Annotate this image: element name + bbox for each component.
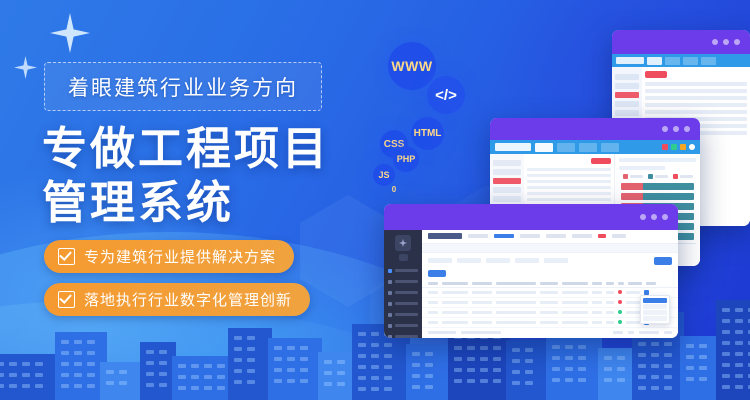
side-nav-item[interactable] (493, 196, 521, 202)
building-silhouette (172, 356, 232, 400)
building-window (493, 346, 501, 350)
side-nav-item-selected[interactable] (493, 178, 521, 184)
primary-action-button[interactable] (645, 71, 667, 78)
nav-tab[interactable] (579, 143, 597, 152)
building-window (565, 356, 573, 360)
app-logo-icon (395, 235, 411, 251)
building-window (0, 362, 4, 366)
building-window (87, 384, 95, 388)
building-window (74, 373, 82, 377)
sidebar-item-settings[interactable] (384, 332, 422, 338)
building-window (234, 336, 242, 340)
side-nav-item[interactable] (615, 110, 639, 116)
building-window (699, 355, 707, 359)
sidebar-item-materials[interactable] (384, 299, 422, 308)
legend-label (680, 175, 693, 178)
building-window (552, 345, 560, 349)
legend-item[interactable] (623, 174, 643, 179)
building-window (61, 340, 69, 344)
building-window (384, 354, 392, 358)
building-window (699, 366, 707, 370)
bubble-zero: 0 (386, 181, 402, 197)
filter-field[interactable] (457, 258, 481, 263)
building-window (300, 357, 308, 361)
building-window (722, 308, 730, 312)
column-header (562, 282, 588, 285)
user-menu[interactable] (612, 234, 626, 238)
building-window (565, 378, 573, 382)
status-badge (618, 290, 622, 294)
sidebar-item-projects[interactable] (384, 277, 422, 286)
building-window (119, 370, 127, 374)
table-row[interactable] (645, 110, 747, 114)
folder-icon (388, 280, 392, 284)
menu-item[interactable] (572, 234, 592, 238)
building-window (664, 386, 672, 390)
table-cell (496, 301, 536, 304)
sidebar-item-contracts[interactable] (384, 288, 422, 297)
filter-field[interactable] (515, 258, 539, 263)
side-nav-item-selected[interactable] (615, 92, 639, 98)
building-window (247, 336, 255, 340)
table-cell (606, 301, 614, 304)
building-window (512, 348, 520, 352)
building-window (247, 347, 255, 351)
building-window (722, 363, 730, 367)
building-window (358, 343, 366, 347)
building-window (651, 342, 659, 346)
building-silhouette (406, 344, 452, 400)
notification-icon[interactable] (598, 234, 606, 238)
doc-icon (388, 291, 392, 295)
feature-badge[interactable]: 专为建筑行业提供解决方案 (44, 240, 294, 273)
building-window (22, 362, 30, 366)
column-header (646, 282, 656, 285)
building-window (735, 330, 743, 334)
app-top-nav[interactable] (490, 140, 700, 154)
building-window (638, 353, 646, 357)
table-cell (472, 321, 492, 324)
building-window (412, 363, 420, 367)
context-menu[interactable] (640, 295, 670, 324)
panel-subheader (619, 166, 665, 170)
side-nav-item[interactable] (615, 83, 639, 89)
building-window (384, 387, 392, 391)
side-nav-item[interactable] (615, 74, 639, 80)
building-window (722, 385, 730, 389)
legend-item[interactable] (648, 174, 668, 179)
list-item[interactable] (527, 168, 611, 171)
building-window (87, 373, 95, 377)
building-window (638, 342, 646, 346)
building-window (735, 319, 743, 323)
building-window (493, 357, 501, 361)
building-window (578, 367, 586, 371)
building-window (371, 387, 379, 391)
side-nav-item[interactable] (493, 160, 521, 166)
building-window (467, 357, 475, 361)
table-cell (592, 321, 602, 324)
building-window (106, 381, 114, 385)
building-window (525, 359, 533, 363)
table-header (422, 280, 678, 287)
building-silhouette (140, 342, 176, 400)
building-window (525, 370, 533, 374)
building-window (9, 384, 17, 388)
table-cell (562, 311, 588, 314)
building-window (358, 354, 366, 358)
window-controls[interactable] (640, 214, 668, 220)
table-footer[interactable] (422, 328, 678, 338)
table-cell (472, 301, 492, 304)
building-window (247, 358, 255, 362)
building-window (371, 343, 379, 347)
legend-item[interactable] (673, 174, 693, 179)
table-cell (606, 311, 614, 314)
table-cell (472, 291, 492, 294)
building-window (35, 373, 43, 377)
window-body (384, 230, 678, 338)
chart-bar-segment (643, 183, 694, 190)
status-badge (618, 310, 622, 314)
building-window (358, 387, 366, 391)
building-window (0, 384, 4, 388)
building-window (9, 362, 17, 366)
building-window (61, 351, 69, 355)
menu-item[interactable] (468, 234, 488, 238)
breadcrumb (422, 244, 678, 253)
building-window (578, 345, 586, 349)
table-cell (442, 291, 468, 294)
building-silhouette (680, 336, 720, 400)
building-window (358, 376, 366, 380)
side-nav-item[interactable] (615, 101, 639, 107)
building-window (159, 383, 167, 387)
table-cell (472, 311, 492, 314)
dashboard-window-front[interactable] (384, 204, 678, 338)
chart-bar (621, 183, 694, 190)
building-silhouette (268, 338, 322, 400)
table-row[interactable] (645, 96, 747, 100)
sidebar-item-reports[interactable] (384, 321, 422, 330)
building-window (217, 375, 225, 379)
building-window (565, 367, 573, 371)
building-window (735, 363, 743, 367)
building-window (735, 385, 743, 389)
bubble-code: </> (427, 76, 465, 114)
building-window (480, 346, 488, 350)
building-window (467, 346, 475, 350)
nav-tab[interactable] (665, 57, 680, 65)
building-window (512, 370, 520, 374)
building-window (425, 374, 433, 378)
table-cell (592, 311, 602, 314)
search-input[interactable] (544, 258, 568, 263)
building-window (412, 385, 420, 389)
legend-label (630, 175, 643, 178)
collapse-icon[interactable] (399, 254, 408, 261)
building-window (87, 362, 95, 366)
toolbar-icons[interactable] (662, 144, 695, 150)
building-window (512, 359, 520, 363)
app-title (428, 233, 462, 239)
building-window (204, 375, 212, 379)
building-window (247, 380, 255, 384)
building-window (191, 375, 199, 379)
menu-item-active[interactable] (494, 234, 514, 238)
building-window (74, 351, 82, 355)
table-cell (626, 301, 640, 304)
building-silhouette (506, 340, 550, 400)
building-window (578, 378, 586, 382)
building-window (493, 379, 501, 383)
filter-field[interactable] (486, 258, 510, 263)
nav-tab[interactable] (701, 57, 716, 65)
alert-icon[interactable] (662, 144, 668, 150)
building-window (454, 368, 462, 372)
building-window (664, 364, 672, 368)
column-header (540, 282, 558, 285)
building-window (722, 374, 730, 378)
nav-tab[interactable] (683, 57, 698, 65)
building-window (686, 377, 694, 381)
main-content (422, 230, 678, 338)
building-window (512, 381, 520, 385)
gear-icon (388, 335, 392, 339)
nav-tab[interactable] (601, 143, 619, 152)
building-window (467, 368, 475, 372)
building-window (274, 357, 282, 361)
building-window (699, 344, 707, 348)
building-window (412, 352, 420, 356)
building-window (638, 364, 646, 368)
building-window (638, 386, 646, 390)
list-item[interactable] (527, 192, 611, 195)
list-item[interactable] (527, 180, 611, 183)
building-window (300, 368, 308, 372)
building-window (425, 352, 433, 356)
table-cell (540, 291, 558, 294)
bubble-php: PHP (393, 146, 419, 172)
building-window (87, 351, 95, 355)
building-window (664, 342, 672, 346)
list-item[interactable] (527, 186, 611, 189)
building-window (358, 365, 366, 369)
building-window (247, 369, 255, 373)
feature-badge[interactable]: 落地执行行业数字化管理创新 (44, 283, 310, 316)
building-window (300, 379, 308, 383)
user-icon (388, 313, 392, 317)
building-window (61, 362, 69, 366)
message-icon[interactable] (671, 144, 677, 150)
building-window (664, 353, 672, 357)
building-window (480, 368, 488, 372)
building-window (552, 356, 560, 360)
nav-tab[interactable] (557, 143, 575, 152)
building-window (204, 364, 212, 368)
table-row[interactable] (645, 103, 747, 107)
column-header (618, 282, 624, 285)
table-cell (428, 291, 438, 294)
building-window (604, 356, 612, 360)
building-window (651, 364, 659, 368)
chart-bar (621, 193, 694, 200)
table-cell (592, 301, 602, 304)
building-window (425, 363, 433, 367)
building-window (722, 330, 730, 334)
building-window (638, 375, 646, 379)
building-window (651, 375, 659, 379)
building-window (35, 362, 43, 366)
building-window (234, 380, 242, 384)
list-item[interactable] (527, 174, 611, 177)
building-window (191, 386, 199, 390)
building-window (552, 378, 560, 382)
nav-tab[interactable] (535, 143, 553, 152)
bubble-www: WWW (388, 42, 436, 90)
building-window (565, 345, 573, 349)
sparkle-icon (14, 56, 37, 79)
building-window (287, 368, 295, 372)
table-cell (606, 321, 614, 324)
table-cell (442, 321, 468, 324)
building-window (287, 379, 295, 383)
table-cell (428, 301, 438, 304)
building-window (722, 319, 730, 323)
table-cell (626, 311, 640, 314)
building-window (300, 346, 308, 350)
menu-item[interactable] (546, 234, 566, 238)
side-nav-item[interactable] (493, 169, 521, 175)
sidebar-item-staff[interactable] (384, 310, 422, 319)
feature-badge-label: 专为建筑行业提供解决方案 (84, 246, 276, 267)
chart-icon (388, 324, 392, 328)
panel-header (619, 158, 696, 162)
building-window (735, 374, 743, 378)
table-cell (626, 291, 640, 294)
building-window (604, 378, 612, 382)
chart-bar-segment (621, 183, 643, 190)
chart-bar-segment (643, 193, 694, 200)
window-title-bar (490, 118, 700, 140)
nav-tab[interactable] (647, 57, 662, 65)
table-cell (442, 311, 468, 314)
context-menu-item[interactable] (643, 310, 667, 315)
column-header (606, 282, 614, 285)
avatar[interactable] (689, 144, 695, 150)
building-window (699, 377, 707, 381)
building-window (106, 370, 114, 374)
subtitle-tag: 着眼建筑行业业务方向 (44, 62, 322, 111)
building-window (324, 382, 332, 386)
legend-swatch (648, 174, 653, 179)
building-window (159, 350, 167, 354)
column-header (592, 282, 602, 285)
action-button[interactable] (591, 158, 611, 164)
filter-bar[interactable] (422, 253, 678, 268)
table-cell (562, 321, 588, 324)
building-window (0, 373, 4, 377)
filter-field[interactable] (428, 258, 452, 263)
menu-item[interactable] (520, 234, 540, 238)
building-window (425, 385, 433, 389)
building-window (722, 352, 730, 356)
building-window (178, 364, 186, 368)
list-item[interactable] (527, 198, 611, 201)
building-window (274, 346, 282, 350)
app-sidebar[interactable] (384, 230, 422, 338)
building-window (578, 356, 586, 360)
bubble-html: HTML (411, 117, 444, 150)
table-cell (540, 321, 558, 324)
building-window (35, 384, 43, 388)
checkbox-check-icon (58, 291, 75, 308)
building-silhouette (716, 300, 750, 400)
building-window (735, 308, 743, 312)
building-window (617, 356, 625, 360)
window-title-bar (384, 204, 678, 230)
table-cell (496, 321, 536, 324)
table-cell (562, 301, 588, 304)
building-window (146, 383, 154, 387)
window-controls[interactable] (662, 126, 690, 132)
context-menu-item[interactable] (643, 316, 667, 321)
side-nav-item[interactable] (493, 187, 521, 193)
table-cell (428, 321, 438, 324)
building-window (735, 341, 743, 345)
context-menu-item[interactable] (643, 298, 667, 303)
column-header (472, 282, 492, 285)
box-icon (388, 302, 392, 306)
top-toolbar[interactable] (422, 230, 678, 244)
building-window (686, 344, 694, 348)
search-button[interactable] (654, 257, 672, 265)
checkbox-check-icon (58, 248, 75, 265)
headline-line-2: 管理系统 (42, 176, 382, 230)
building-window (337, 382, 345, 386)
table-row[interactable] (645, 82, 747, 86)
window-controls[interactable] (712, 39, 740, 45)
sidebar-item-dashboard[interactable] (384, 266, 422, 275)
building-window (287, 346, 295, 350)
building-window (324, 371, 332, 375)
table-row[interactable] (645, 89, 747, 93)
building-window (178, 386, 186, 390)
building-window (480, 357, 488, 361)
building-window (651, 386, 659, 390)
bell-icon[interactable] (680, 144, 686, 150)
table-cell (442, 301, 468, 304)
status-badge (618, 320, 622, 324)
add-button[interactable] (428, 270, 446, 277)
table-cell (592, 291, 602, 294)
building-window (604, 367, 612, 371)
building-window (159, 361, 167, 365)
feature-badge-list: 专为建筑行业提供解决方案 落地执行行业数字化管理创新 (44, 240, 310, 326)
building-silhouette (228, 328, 272, 400)
building-window (146, 350, 154, 354)
app-top-nav[interactable] (612, 54, 750, 67)
building-window (525, 381, 533, 385)
headline-line-1: 专做工程项目 (42, 122, 382, 176)
context-menu-item[interactable] (643, 304, 667, 309)
building-window (493, 368, 501, 372)
building-window (371, 354, 379, 358)
promo-banner: 着眼建筑行业业务方向 专做工程项目 管理系统 专为建筑行业提供解决方案 落地执行… (0, 0, 750, 400)
app-logo (616, 57, 644, 64)
building-window (384, 376, 392, 380)
building-window (371, 365, 379, 369)
